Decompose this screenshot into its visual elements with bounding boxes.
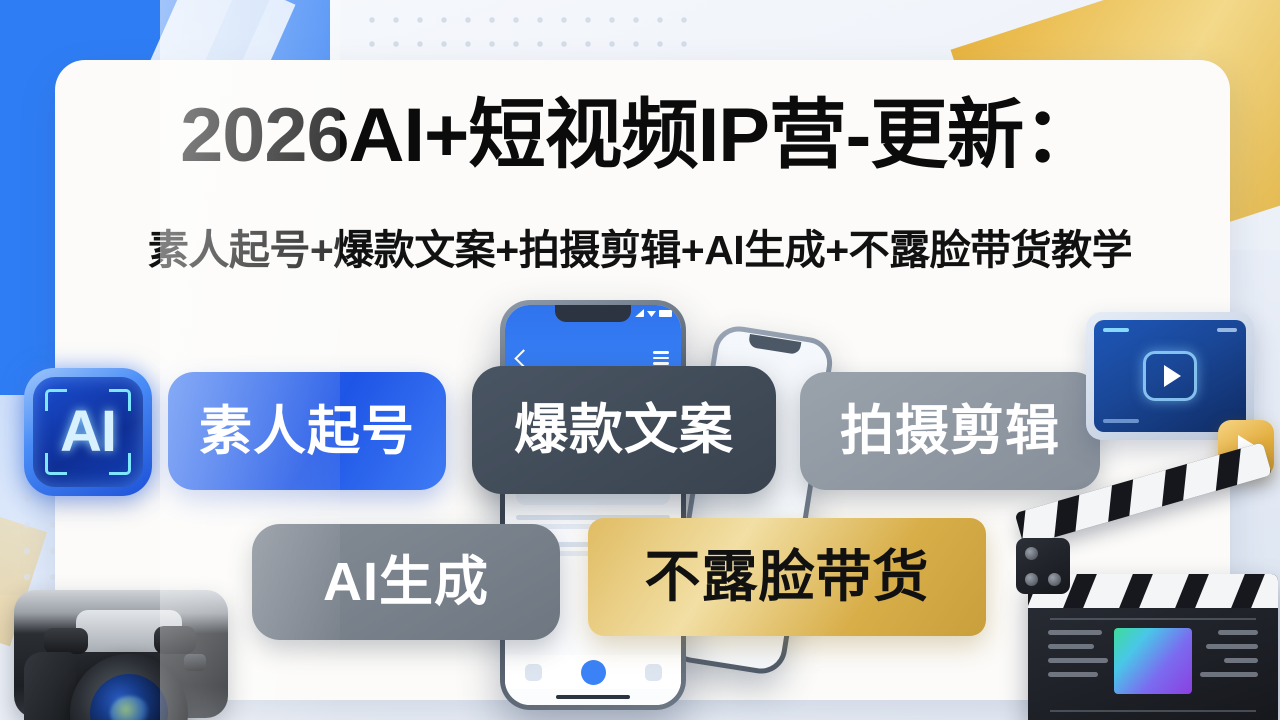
battery-icon xyxy=(659,310,672,317)
feature-pill-bululian-daihuo[interactable]: 不露脸带货 xyxy=(588,518,986,636)
tab-icon-home[interactable] xyxy=(525,664,542,681)
camera-body xyxy=(14,590,228,718)
hamburger-menu-icon[interactable] xyxy=(653,351,669,364)
camera-dial-right xyxy=(154,626,196,654)
feature-pill-label: 素人起号 xyxy=(199,405,415,458)
wifi-icon xyxy=(647,309,656,317)
scan-corner-icon xyxy=(109,389,131,411)
camera-lens-flare xyxy=(110,696,150,720)
menu-line xyxy=(653,351,669,353)
dslr-camera-icon xyxy=(6,548,238,720)
phone-mockup-front xyxy=(500,300,686,710)
back-chevron-icon[interactable] xyxy=(514,349,532,367)
tab-icon-profile[interactable] xyxy=(645,664,662,681)
video-device-indicator-bottom xyxy=(1103,419,1139,423)
tab-icon-create[interactable] xyxy=(581,660,606,685)
feature-pill-baokuan-wenan[interactable]: 爆款文案 xyxy=(472,366,776,494)
scan-corner-icon xyxy=(45,453,67,475)
scan-corner-icon xyxy=(109,453,131,475)
scan-corner-icon xyxy=(45,389,67,411)
signal-icon xyxy=(635,309,644,317)
feature-pill-label: 不露脸带货 xyxy=(645,549,930,605)
page-subtitle: 素人起号+爆款文案+拍摄剪辑+AI生成+不露脸带货教学 xyxy=(0,216,1280,276)
menu-line xyxy=(653,362,669,364)
phone-notch xyxy=(555,305,631,322)
clapperboard-hinge xyxy=(1016,538,1070,594)
menu-line xyxy=(653,357,669,359)
video-device-indicator-left xyxy=(1103,328,1129,332)
home-indicator xyxy=(556,695,630,699)
phone-tab-bar[interactable] xyxy=(505,655,681,689)
feature-pill-ai-shengcheng[interactable]: AI生成 xyxy=(252,524,560,640)
phone-front-screen xyxy=(505,305,681,705)
feature-pill-label: 拍摄剪辑 xyxy=(840,404,1060,458)
camera-lens xyxy=(70,654,188,720)
video-device-screen xyxy=(1094,320,1246,432)
clapperboard-icon xyxy=(1000,492,1280,720)
clapperboard-slate xyxy=(1028,574,1278,720)
phone-status-icons xyxy=(635,309,672,317)
feature-pill-paishe-jianji[interactable]: 拍摄剪辑 xyxy=(800,372,1100,490)
play-icon[interactable] xyxy=(1143,351,1197,401)
feature-pill-label: AI生成 xyxy=(323,555,489,609)
ai-icon-label: AI xyxy=(60,403,116,461)
ai-icon-inner: AI xyxy=(33,377,143,487)
camera-button xyxy=(184,654,206,671)
page-title: 2026AI+短视频IP营-更新： xyxy=(0,98,1280,174)
feature-pill-label: 爆款文案 xyxy=(514,403,734,457)
camera-grip xyxy=(24,652,76,720)
ai-scan-icon: AI xyxy=(24,368,152,496)
clapperboard-color-swatch xyxy=(1114,628,1192,694)
dot-grid-pattern-top xyxy=(360,8,690,64)
poster-canvas: 2026AI+短视频IP营-更新： 素人起号+爆款文案+拍摄剪辑+AI生成+不露… xyxy=(0,0,1280,720)
camera-lens-glass xyxy=(90,674,168,720)
clapperboard-fields xyxy=(1040,618,1266,718)
video-device-indicator-right xyxy=(1217,328,1237,332)
camera-dial-left xyxy=(44,628,88,654)
feature-pill-suren-qihao[interactable]: 素人起号 xyxy=(168,372,446,490)
